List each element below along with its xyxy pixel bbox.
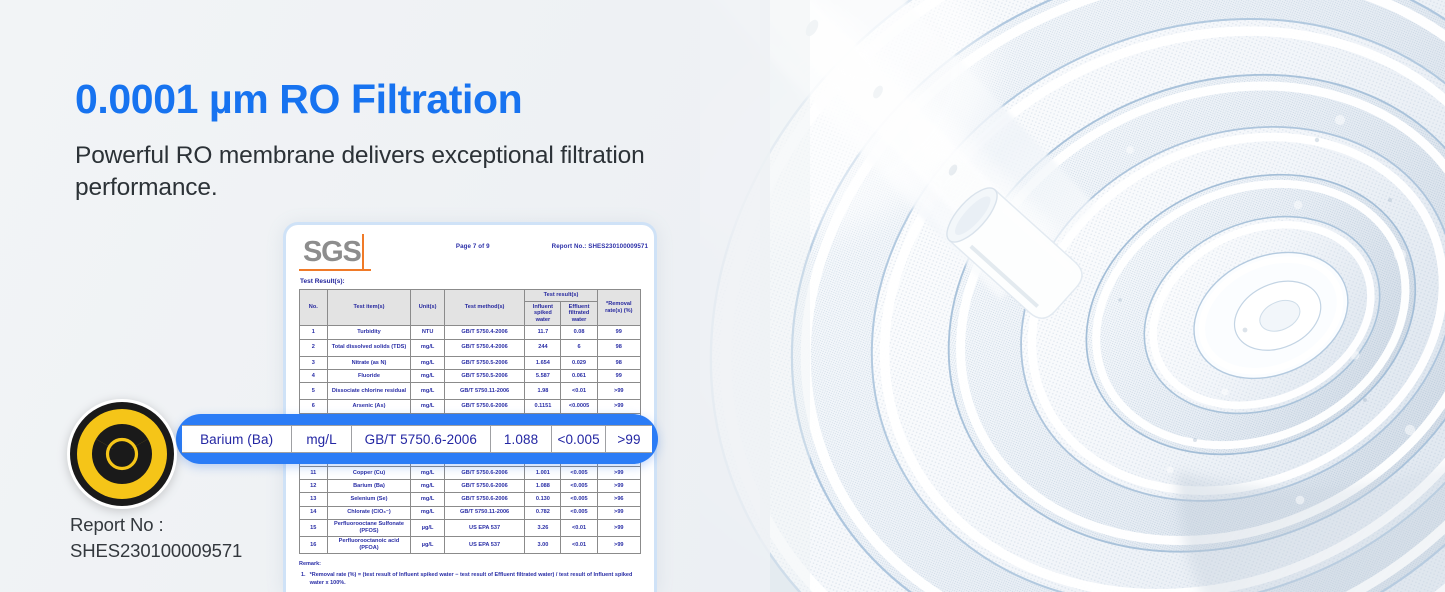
callout-unit: mg/L <box>292 426 351 452</box>
cell-removal: >99 <box>597 480 640 493</box>
cell-removal: 99 <box>597 369 640 382</box>
cell-influent: 244 <box>525 339 561 356</box>
cell-no: 12 <box>300 480 328 493</box>
cell-influent: 1.98 <box>525 383 561 400</box>
cell-influent: 3.00 <box>525 536 561 553</box>
th-unit: Unit(s) <box>411 290 445 326</box>
cell-method: GB/T 5750.5-2006 <box>444 369 524 382</box>
cell-item: Nitrate (as N) <box>327 356 411 369</box>
cell-removal: 98 <box>597 356 640 369</box>
cell-effluent: <0.005 <box>561 493 597 506</box>
cell-influent: 1.654 <box>525 356 561 369</box>
table-row: 16Perfluorooctanoic acid (PFOA)µg/LUS EP… <box>300 536 641 553</box>
cell-method: US EPA 537 <box>444 536 524 553</box>
cell-method: GB/T 5750.6-2006 <box>444 493 524 506</box>
cell-item: Total dissolved solids (TDS) <box>327 339 411 356</box>
callout-removal-rate: >99 <box>606 426 652 452</box>
table-row: 14Chlorate (ClO₃⁻)mg/LGB/T 5750.11-20060… <box>300 506 641 519</box>
page-title: 0.0001 µm RO Filtration <box>75 76 522 123</box>
cell-method: GB/T 5750.11-2006 <box>444 383 524 400</box>
cell-influent: 1.001 <box>525 466 561 479</box>
cell-method: GB/T 5750.6-2006 <box>444 400 524 413</box>
cell-no: 14 <box>300 506 328 519</box>
cell-unit: mg/L <box>411 466 445 479</box>
page-subtitle: Powerful RO membrane delivers exceptiona… <box>75 140 655 205</box>
table-row: 1TurbidityNTUGB/T 5750.4-200611.70.0899 <box>300 326 641 339</box>
sgs-test-report-card: SGS Page 7 of 9 Report No.: SHES23010000… <box>283 222 657 592</box>
cell-removal: 99 <box>597 326 640 339</box>
table-row: 2Total dissolved solids (TDS)mg/LGB/T 57… <box>300 339 641 356</box>
remark-item: 1. *Removal rate (%) = (test result of I… <box>299 572 641 588</box>
cell-item: Perfluorooctane Sulfonate (PFOS) <box>327 519 411 536</box>
cell-effluent: 0.061 <box>561 369 597 382</box>
cell-effluent: 0.08 <box>561 326 597 339</box>
cell-unit: mg/L <box>411 369 445 382</box>
cell-no: 4 <box>300 369 328 382</box>
cell-influent: 1.088 <box>525 480 561 493</box>
cell-no: 3 <box>300 356 328 369</box>
cell-unit: mg/L <box>411 356 445 369</box>
remark-title: Remark: <box>299 561 641 569</box>
cell-item: Selenium (Se) <box>327 493 411 506</box>
th-test-result-group: Test result(s) <box>525 290 597 302</box>
cell-influent: 0.1151 <box>525 400 561 413</box>
th-removal: *Removal rate(s) (%) <box>597 290 640 326</box>
table-row: 4Fluoridemg/LGB/T 5750.5-20065.5870.0619… <box>300 369 641 382</box>
cell-effluent: 0.029 <box>561 356 597 369</box>
cell-effluent: <0.01 <box>561 383 597 400</box>
page-indicator: Page 7 of 9 <box>456 243 490 250</box>
cell-method: GB/T 5750.11-2006 <box>444 506 524 519</box>
table-row: 12Barium (Ba)mg/LGB/T 5750.6-20061.088<0… <box>300 480 641 493</box>
th-influent: Influent spiked water <box>525 301 561 326</box>
cell-no: 11 <box>300 466 328 479</box>
th-item: Test item(s) <box>327 290 411 326</box>
cell-removal: >99 <box>597 466 640 479</box>
remark-item-number: 1. <box>301 572 306 588</box>
cell-item: Perfluorooctanoic acid (PFOA) <box>327 536 411 553</box>
cell-unit: mg/L <box>411 383 445 400</box>
remark-item-text: *Removal rate (%) = (test result of Infl… <box>310 572 641 588</box>
cell-effluent: <0.0005 <box>561 400 597 413</box>
table-row: 11Copper (Cu)mg/LGB/T 5750.6-20061.001<0… <box>300 466 641 479</box>
cell-item: Copper (Cu) <box>327 466 411 479</box>
radiation-icon <box>66 398 178 510</box>
th-no: No. <box>300 290 328 326</box>
report-number-caption: Report No : <box>70 512 280 538</box>
cell-removal: >99 <box>597 383 640 400</box>
remark-block: Remark: 1. *Removal rate (%) = (test res… <box>299 561 641 588</box>
cell-effluent: <0.01 <box>561 519 597 536</box>
th-method: Test method(s) <box>444 290 524 326</box>
cell-influent: 0.130 <box>525 493 561 506</box>
barium-row-callout-content: Barium (Ba) mg/L GB/T 5750.6-2006 1.088 … <box>182 425 652 453</box>
cell-influent: 5.587 <box>525 369 561 382</box>
cell-effluent: <0.005 <box>561 466 597 479</box>
report-number-block: Report No : SHES230100009571 <box>70 512 280 565</box>
callout-effluent: <0.005 <box>552 426 606 452</box>
callout-test-item: Barium (Ba) <box>182 426 292 452</box>
cell-influent: 3.26 <box>525 519 561 536</box>
cell-influent: 11.7 <box>525 326 561 339</box>
cell-item: Barium (Ba) <box>327 480 411 493</box>
cell-item: Fluoride <box>327 369 411 382</box>
cell-effluent: 6 <box>561 339 597 356</box>
table-row: 3Nitrate (as N)mg/LGB/T 5750.5-20061.654… <box>300 356 641 369</box>
cell-item: Chlorate (ClO₃⁻) <box>327 506 411 519</box>
cell-removal: >99 <box>597 536 640 553</box>
cell-unit: mg/L <box>411 339 445 356</box>
cell-unit: mg/L <box>411 400 445 413</box>
sgs-logo-rule-vertical <box>362 234 364 269</box>
section-title: Test Result(s): <box>300 278 641 285</box>
cell-unit: mg/L <box>411 506 445 519</box>
table-head: No. Test item(s) Unit(s) Test method(s) … <box>300 290 641 326</box>
cell-effluent: <0.01 <box>561 536 597 553</box>
cell-removal: >99 <box>597 400 640 413</box>
cell-method: US EPA 537 <box>444 519 524 536</box>
cell-no: 16 <box>300 536 328 553</box>
cell-method: GB/T 5750.5-2006 <box>444 356 524 369</box>
cell-no: 1 <box>300 326 328 339</box>
cell-item: Arsenic (As) <box>327 400 411 413</box>
cell-removal: >96 <box>597 493 640 506</box>
report-number-value: SHES230100009571 <box>70 538 280 564</box>
cell-effluent: <0.005 <box>561 506 597 519</box>
barium-row-callout: Barium (Ba) mg/L GB/T 5750.6-2006 1.088 … <box>176 414 658 464</box>
callout-influent: 1.088 <box>491 426 552 452</box>
table-row: 15Perfluorooctane Sulfonate (PFOS)µg/LUS… <box>300 519 641 536</box>
cell-unit: mg/L <box>411 493 445 506</box>
cell-method: GB/T 5750.4-2006 <box>444 326 524 339</box>
document-meta: Page 7 of 9 Report No.: SHES230100009571 <box>286 243 654 250</box>
cell-item: Turbidity <box>327 326 411 339</box>
cell-no: 5 <box>300 383 328 400</box>
sgs-logo-rule-horizontal <box>299 269 371 271</box>
cell-removal: >99 <box>597 519 640 536</box>
cell-removal: >99 <box>597 506 640 519</box>
cell-no: 2 <box>300 339 328 356</box>
cell-no: 6 <box>300 400 328 413</box>
table-row: 6Arsenic (As)mg/LGB/T 5750.6-20060.1151<… <box>300 400 641 413</box>
report-number-label: Report No.: SHES230100009571 <box>552 243 648 250</box>
promo-banner: 0.0001 µm RO Filtration Powerful RO memb… <box>0 0 1445 592</box>
cell-influent: 0.782 <box>525 506 561 519</box>
cell-unit: NTU <box>411 326 445 339</box>
sgs-logo-text: SGS <box>303 237 377 267</box>
cell-method: GB/T 5750.6-2006 <box>444 480 524 493</box>
cell-unit: µg/L <box>411 519 445 536</box>
cell-removal: 98 <box>597 339 640 356</box>
cell-method: GB/T 5750.4-2006 <box>444 339 524 356</box>
table-row: 5Dissociate chlorine residualmg/LGB/T 57… <box>300 383 641 400</box>
th-effluent: Effluent filtrated water <box>561 301 597 326</box>
cell-item: Dissociate chlorine residual <box>327 383 411 400</box>
callout-test-method: GB/T 5750.6-2006 <box>352 426 491 452</box>
ro-membrane-photo <box>700 0 1445 592</box>
cell-effluent: <0.005 <box>561 480 597 493</box>
cell-method: GB/T 5750.6-2006 <box>444 466 524 479</box>
table-row: 13Selenium (Se)mg/LGB/T 5750.6-20060.130… <box>300 493 641 506</box>
cell-no: 15 <box>300 519 328 536</box>
cell-unit: µg/L <box>411 536 445 553</box>
cell-no: 13 <box>300 493 328 506</box>
cell-unit: mg/L <box>411 480 445 493</box>
